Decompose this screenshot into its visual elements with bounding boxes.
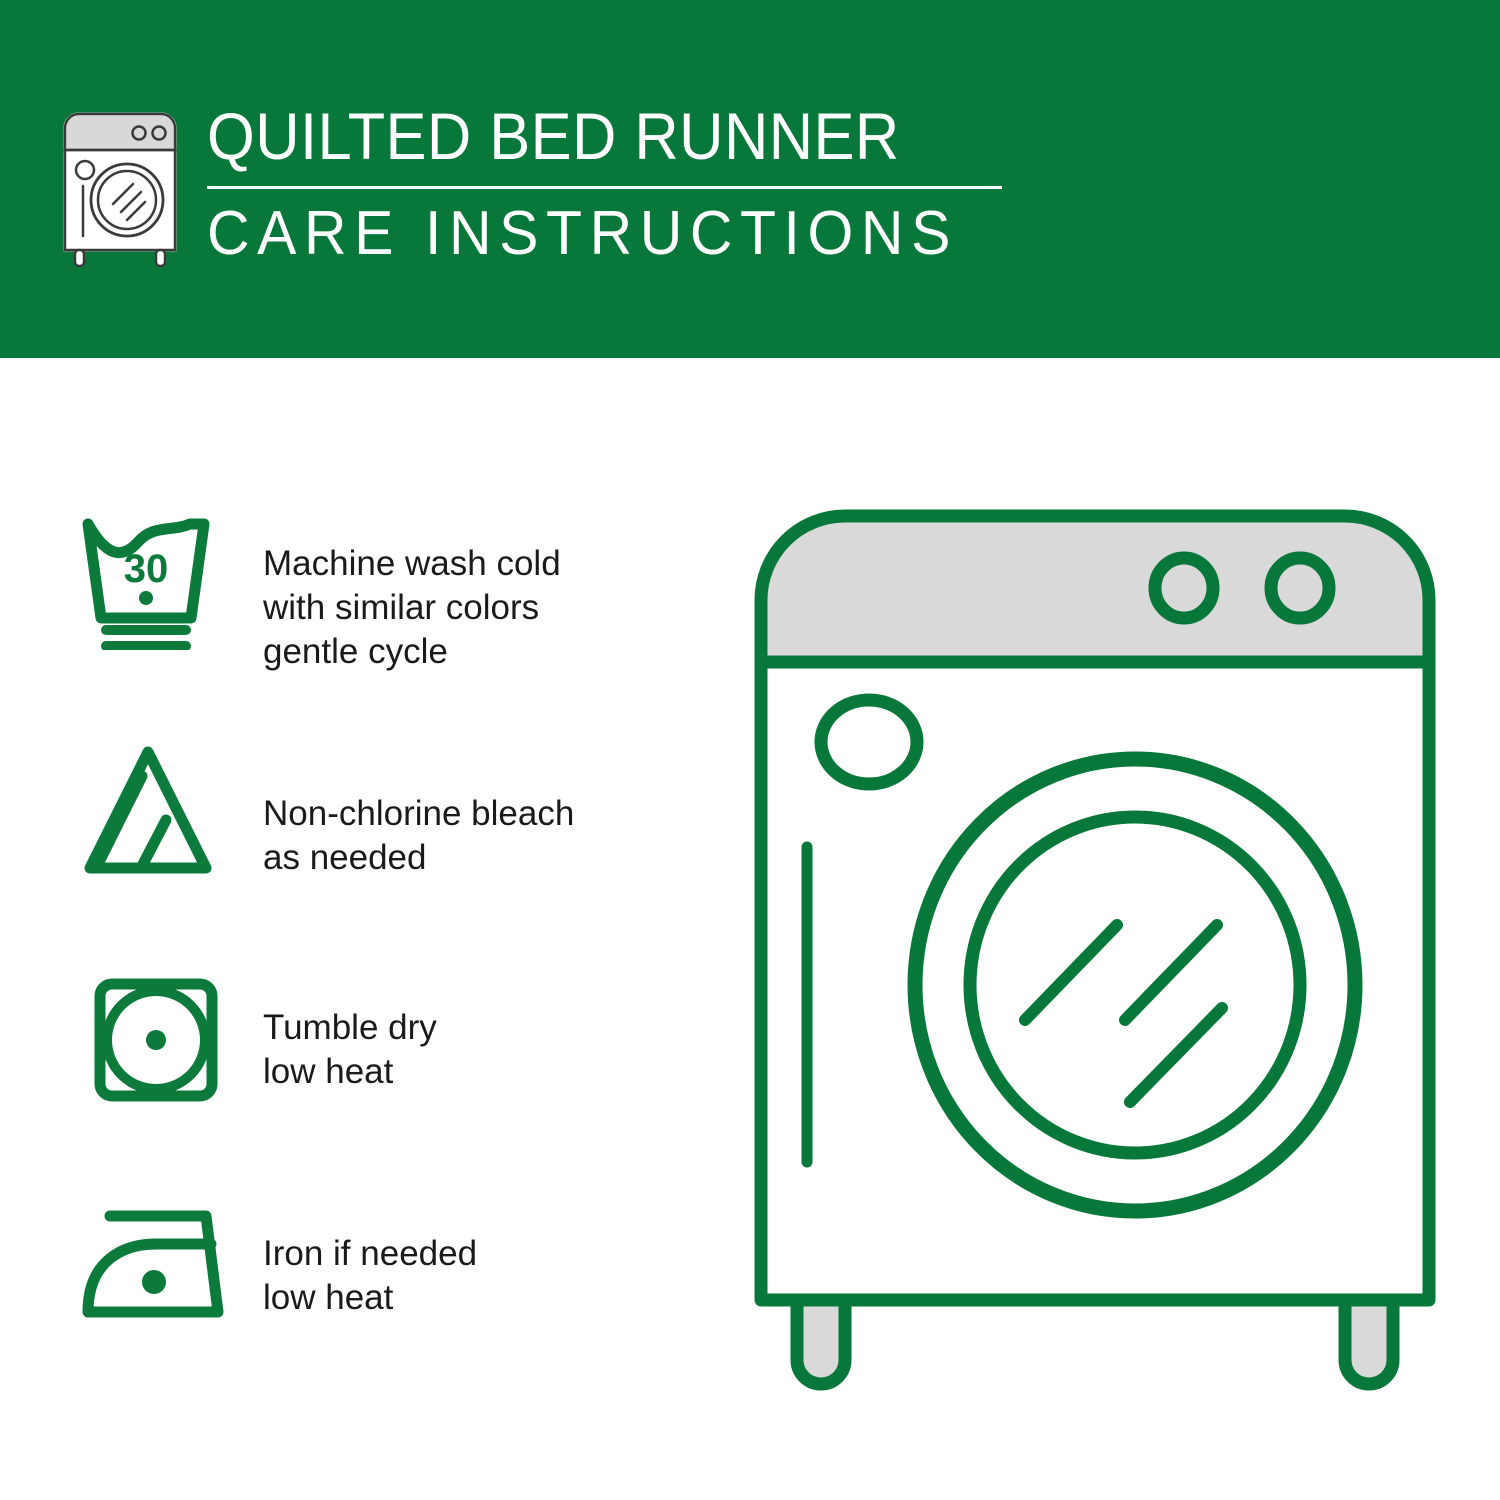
tumble-dry-icon	[70, 970, 235, 1110]
care-instructions-list: 30 Machine wash cold with similar colors…	[70, 510, 670, 1430]
care-item-tumble-dry-label: Tumble dry low heat	[263, 970, 437, 1094]
care-item-iron: Iron if needed low heat	[70, 1200, 670, 1430]
header-text-block: QUILTED BED RUNNER CARE INSTRUCTIONS	[207, 100, 1002, 267]
care-instructions-page: QUILTED BED RUNNER CARE INSTRUCTIONS 30	[0, 0, 1500, 1500]
bleach-triangle-icon	[70, 740, 235, 880]
wash-tub-30-icon: 30	[70, 510, 235, 650]
wash-temperature-value: 30	[123, 547, 168, 591]
care-item-bleach-label: Non-chlorine bleach as needed	[263, 740, 574, 880]
care-item-wash-label: Machine wash cold with similar colors ge…	[263, 510, 561, 674]
iron-icon	[70, 1200, 235, 1340]
care-item-bleach: Non-chlorine bleach as needed	[70, 740, 670, 970]
washing-machine-illustration	[735, 490, 1455, 1420]
care-item-iron-label: Iron if needed low heat	[263, 1200, 477, 1320]
care-item-wash: 30 Machine wash cold with similar colors…	[70, 510, 670, 740]
header-content: QUILTED BED RUNNER CARE INSTRUCTIONS	[55, 100, 1002, 273]
washing-machine-icon	[55, 108, 185, 273]
care-item-tumble-dry: Tumble dry low heat	[70, 970, 670, 1200]
header-banner: QUILTED BED RUNNER CARE INSTRUCTIONS	[0, 0, 1500, 358]
page-subtitle: CARE INSTRUCTIONS	[207, 201, 962, 267]
page-title: QUILTED BED RUNNER	[207, 100, 946, 172]
title-divider	[207, 186, 1002, 189]
